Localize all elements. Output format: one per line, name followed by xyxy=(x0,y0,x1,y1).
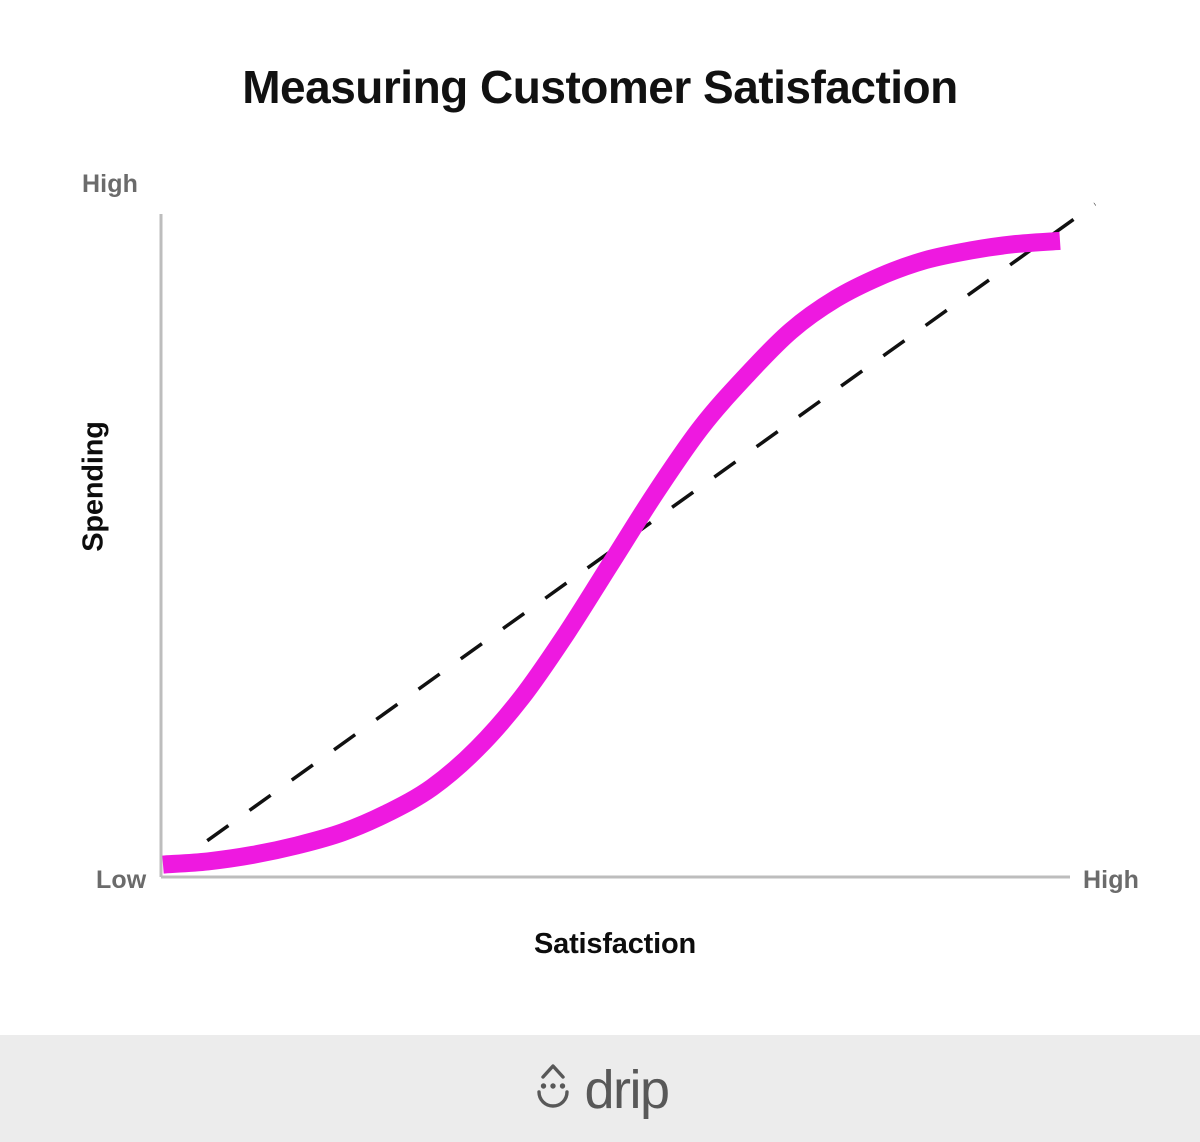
chart-page: Measuring Customer Satisfaction High Low… xyxy=(0,0,1200,1142)
brand-wordmark: drip xyxy=(584,1063,668,1117)
footer-bar: drip xyxy=(0,1035,1200,1142)
y-axis-high-label: High xyxy=(82,170,138,199)
y-axis-low-label: Low xyxy=(96,866,146,895)
x-axis-high-label: High xyxy=(1083,866,1139,895)
drip-droplet-smiley-icon xyxy=(531,1061,575,1116)
x-axis-title: Satisfaction xyxy=(160,928,1070,961)
satisfaction-spending-curve xyxy=(163,241,1060,865)
y-axis-title: Spending xyxy=(78,387,111,587)
brand-logo: drip xyxy=(531,1061,668,1116)
drip-droplet-smiley-icon-svg xyxy=(531,1061,575,1111)
plot-area: High Low High Spending Satisfaction xyxy=(0,0,1200,1035)
chart-svg xyxy=(0,0,1200,1035)
